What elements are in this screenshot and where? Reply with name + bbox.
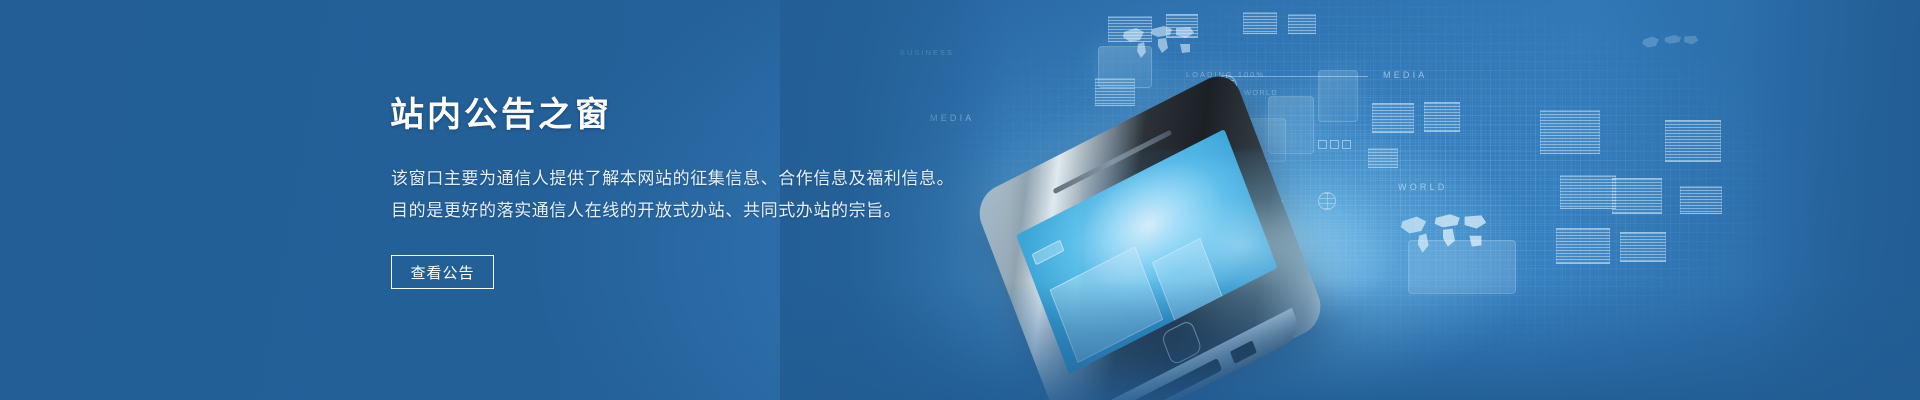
data-panel-icon: [1288, 14, 1316, 34]
data-panel-icon: [1612, 178, 1662, 214]
data-panel-icon: [1556, 228, 1610, 264]
data-panel-icon: [1540, 110, 1600, 154]
dots-icon: [1318, 140, 1351, 149]
hud-label-media-top: MEDIA: [1383, 70, 1428, 80]
data-panel-icon: [1620, 232, 1666, 262]
description-line-1: 该窗口主要为通信人提供了解本网站的征集信息、合作信息及福利信息。: [391, 163, 954, 195]
data-panel-icon: [1560, 175, 1616, 209]
banner-description: 该窗口主要为通信人提供了解本网站的征集信息、合作信息及福利信息。 目的是更好的落…: [391, 163, 954, 227]
data-panel-icon: [1665, 120, 1721, 162]
page-title: 站内公告之窗: [390, 98, 612, 132]
view-announcements-button[interactable]: 查看公告: [391, 255, 494, 289]
data-panel-icon: [1372, 103, 1414, 133]
data-panel-icon: [1680, 186, 1722, 214]
floating-card: [1098, 46, 1152, 88]
data-panel-icon: [1243, 12, 1277, 34]
screen-panel: [1032, 240, 1065, 266]
description-line-2: 目的是更好的落实通信人在线的开放式办站、共同式办站的宗旨。: [391, 195, 954, 227]
floating-card: [1318, 70, 1358, 122]
world-map-icon: [1640, 30, 1700, 62]
data-panel-icon: [1424, 102, 1460, 132]
announcement-banner: BUSINESS LOADING 100% MEDIA MEDIA NETWOR…: [0, 0, 1920, 400]
banner-content: 站内公告之窗 该窗口主要为通信人提供了解本网站的征集信息、合作信息及福利信息。 …: [390, 0, 1010, 400]
